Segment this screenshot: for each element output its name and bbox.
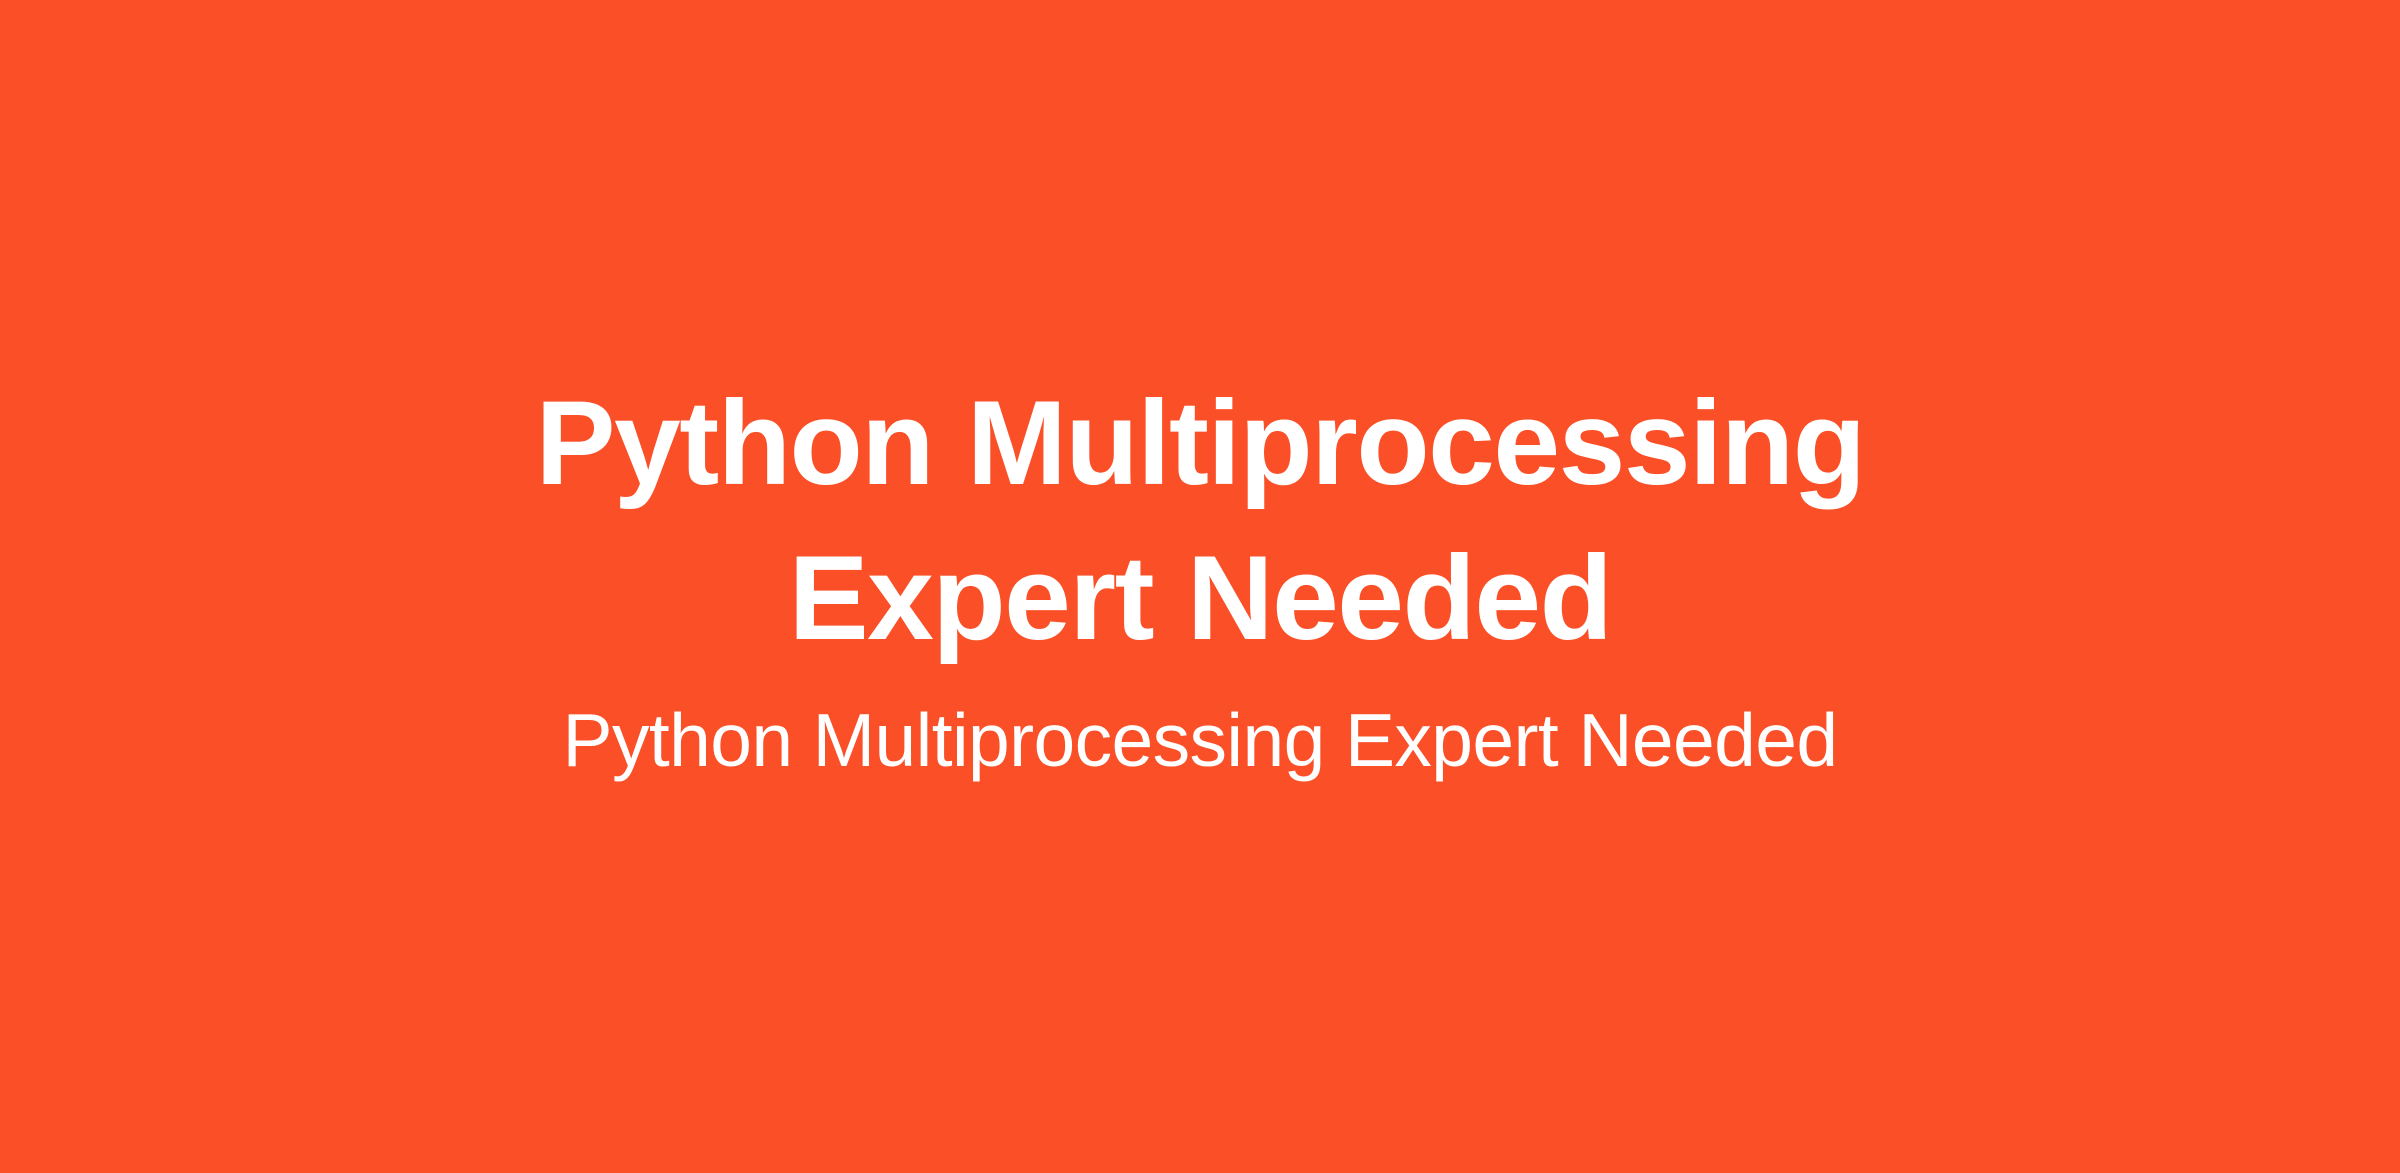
hero-banner: Python Multiprocessing Expert Needed Pyt… — [0, 0, 2400, 1173]
hero-text-block: Python Multiprocessing Expert Needed Pyt… — [360, 366, 2040, 786]
page-title: Python Multiprocessing Expert Needed — [490, 366, 1910, 676]
page-subtitle: Python Multiprocessing Expert Needed — [360, 694, 2040, 786]
